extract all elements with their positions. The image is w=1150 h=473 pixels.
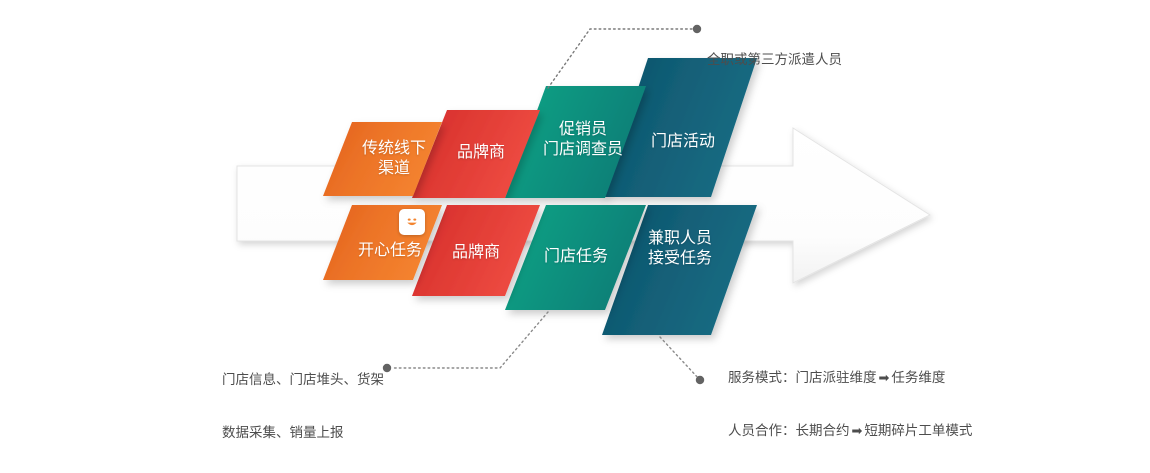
connector-dot [693, 25, 701, 33]
staff-coop-suffix: 短期碎片工单模式 [864, 423, 972, 439]
annotation-bottom-left-line-1: 门店信息、门店堆头、货架 [222, 367, 384, 393]
annotation-top-right: 全职或第三方派遣人员 [707, 21, 842, 100]
bottom-row-group [323, 205, 757, 335]
staff-coop-prefix: 人员合作：长期合约 [728, 423, 850, 439]
annotation-bottom-left-line-2: 数据采集、销量上报 [222, 420, 384, 446]
connector-bottom-left [383, 312, 548, 372]
service-mode-prefix: 服务模式：门店派驻维度 [728, 370, 877, 386]
smiley-icon [399, 209, 425, 235]
service-mode-suffix: 任务维度 [891, 370, 945, 386]
annotation-bottom-right-line-2: 人员合作：长期合约➡短期碎片工单模式 [728, 418, 972, 444]
top-row-group [323, 58, 757, 198]
connector-dot [696, 376, 704, 384]
annotation-bottom-right-line-1: 服务模式：门店派驻维度➡任务维度 [728, 365, 972, 391]
connector-bottom-right [660, 337, 704, 384]
annotation-bottom-right: 服务模式：门店派驻维度➡任务维度 人员合作：长期合约➡短期碎片工单模式 [728, 339, 972, 471]
right-arrow-icon: ➡ [850, 424, 865, 439]
right-arrow-icon: ➡ [877, 371, 892, 386]
connector-dot [383, 364, 391, 372]
annotation-top-right-line-1: 全职或第三方派遣人员 [707, 47, 842, 73]
annotation-bottom-left: 门店信息、门店堆头、货架 数据采集、销量上报 [222, 341, 384, 473]
diagram-canvas: 传统线下 渠道 品牌商 促销员 门店调查员 门店活动 开心任务 品牌商 门店任务… [0, 0, 1150, 430]
diagram-vector-layer [0, 0, 1150, 430]
